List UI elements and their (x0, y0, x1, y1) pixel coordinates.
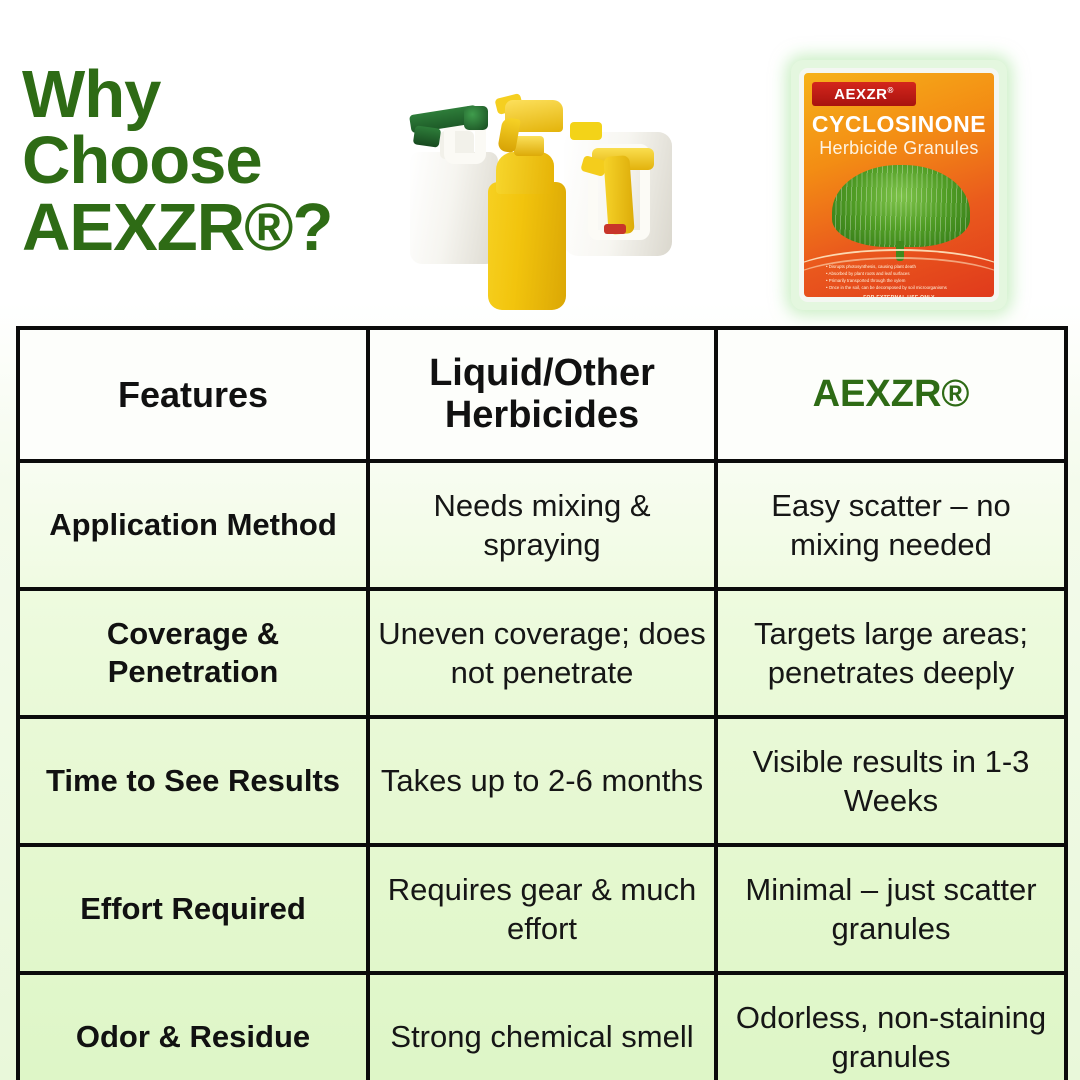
aexzr-value: Visible results in 1-3 Weeks (724, 742, 1058, 820)
table-row: Effort Required Requires gear & much eff… (18, 845, 1066, 973)
aexzr-value: Minimal – just scatter granules (724, 870, 1058, 948)
packet-footer-warning: FOR EXTERNAL USE ONLY (804, 295, 994, 301)
header-label-features: Features (28, 374, 358, 416)
feature-label: Coverage & Penetration (26, 615, 360, 691)
white-jug-right-cap (570, 122, 602, 140)
packet-bullet: Absorbed by plant roots and leaf surface… (826, 270, 976, 277)
row-aexzr-cell: Targets large areas; penetrates deeply (716, 589, 1066, 717)
leaf-icon (832, 165, 970, 247)
feature-label: Time to See Results (26, 762, 360, 800)
yellow-trigger-grip (603, 155, 634, 235)
row-other-cell: Strong chemical smell (368, 973, 716, 1080)
green-nozzle-trigger (413, 125, 441, 147)
table-row: Application Method Needs mixing & sprayi… (18, 461, 1066, 589)
table-row: Coverage & Penetration Uneven coverage; … (18, 589, 1066, 717)
row-aexzr-cell: Minimal – just scatter granules (716, 845, 1066, 973)
sprayer-bottles-image (392, 74, 684, 318)
page-title: Why Choose AEXZR®? (22, 62, 402, 261)
aexzr-value: Targets large areas; penetrates deeply (724, 614, 1058, 692)
other-value: Strong chemical smell (376, 1017, 708, 1056)
header-label-other-herbicides: Liquid/Other Herbicides (378, 353, 706, 435)
aexzr-value: Odorless, non-staining granules (724, 998, 1058, 1076)
aexzr-value: Easy scatter – no mixing needed (724, 486, 1058, 564)
product-packet-image: AEXZR® CYCLOSINONE Herbicide Granules Di… (799, 68, 999, 302)
header-cell-features: Features (18, 328, 368, 461)
hero-section: Why Choose AEXZR®? (0, 0, 1080, 322)
feature-label: Odor & Residue (26, 1018, 360, 1056)
row-other-cell: Uneven coverage; does not penetrate (368, 589, 716, 717)
header-cell-aexzr: AEXZR® (716, 328, 1066, 461)
header-cell-other-herbicides: Liquid/Other Herbicides (368, 328, 716, 461)
table-header-row: Features Liquid/Other Herbicides AEXZR® (18, 328, 1066, 461)
packet-product-subtitle: Herbicide Granules (804, 138, 994, 159)
yellow-bottle-body (488, 182, 566, 310)
packet-product-name: CYCLOSINONE (804, 111, 994, 138)
white-jug-left-body (410, 152, 498, 264)
row-feature-cell: Application Method (18, 461, 368, 589)
feature-label: Application Method (26, 506, 360, 544)
other-value: Takes up to 2-6 months (376, 761, 708, 800)
other-value: Needs mixing & spraying (376, 486, 708, 564)
red-accent (604, 224, 626, 234)
row-feature-cell: Effort Required (18, 845, 368, 973)
comparison-infographic: Why Choose AEXZR®? (0, 0, 1080, 1080)
green-nozzle-head (464, 106, 488, 130)
table-row: Time to See Results Takes up to 2-6 mont… (18, 717, 1066, 845)
other-value: Uneven coverage; does not penetrate (376, 614, 708, 692)
yellow-bottle-collar (514, 136, 544, 156)
row-aexzr-cell: Visible results in 1-3 Weeks (716, 717, 1066, 845)
feature-label: Effort Required (26, 890, 360, 928)
header-label-aexzr: AEXZR® (726, 373, 1056, 416)
row-feature-cell: Time to See Results (18, 717, 368, 845)
yellow-bottle-shoulder (496, 152, 554, 194)
row-feature-cell: Odor & Residue (18, 973, 368, 1080)
packet-bullet: Once in the soil, can be decomposed by s… (826, 284, 976, 291)
row-aexzr-cell: Easy scatter – no mixing needed (716, 461, 1066, 589)
comparison-table: Features Liquid/Other Herbicides AEXZR® … (16, 326, 1068, 1080)
packet-bullet: Disrupts photosynthesis, causing plant d… (826, 263, 976, 270)
row-aexzr-cell: Odorless, non-staining granules (716, 973, 1066, 1080)
packet-brand-band: AEXZR® (812, 82, 916, 106)
packet-bullet: Primarily transported through the xylem (826, 277, 976, 284)
row-other-cell: Requires gear & much effort (368, 845, 716, 973)
packet-brand-label: AEXZR® (834, 86, 894, 103)
table-row: Odor & Residue Strong chemical smell Odo… (18, 973, 1066, 1080)
row-other-cell: Takes up to 2-6 months (368, 717, 716, 845)
row-other-cell: Needs mixing & spraying (368, 461, 716, 589)
row-feature-cell: Coverage & Penetration (18, 589, 368, 717)
other-value: Requires gear & much effort (376, 870, 708, 948)
packet-bullet-list: Disrupts photosynthesis, causing plant d… (826, 263, 976, 292)
